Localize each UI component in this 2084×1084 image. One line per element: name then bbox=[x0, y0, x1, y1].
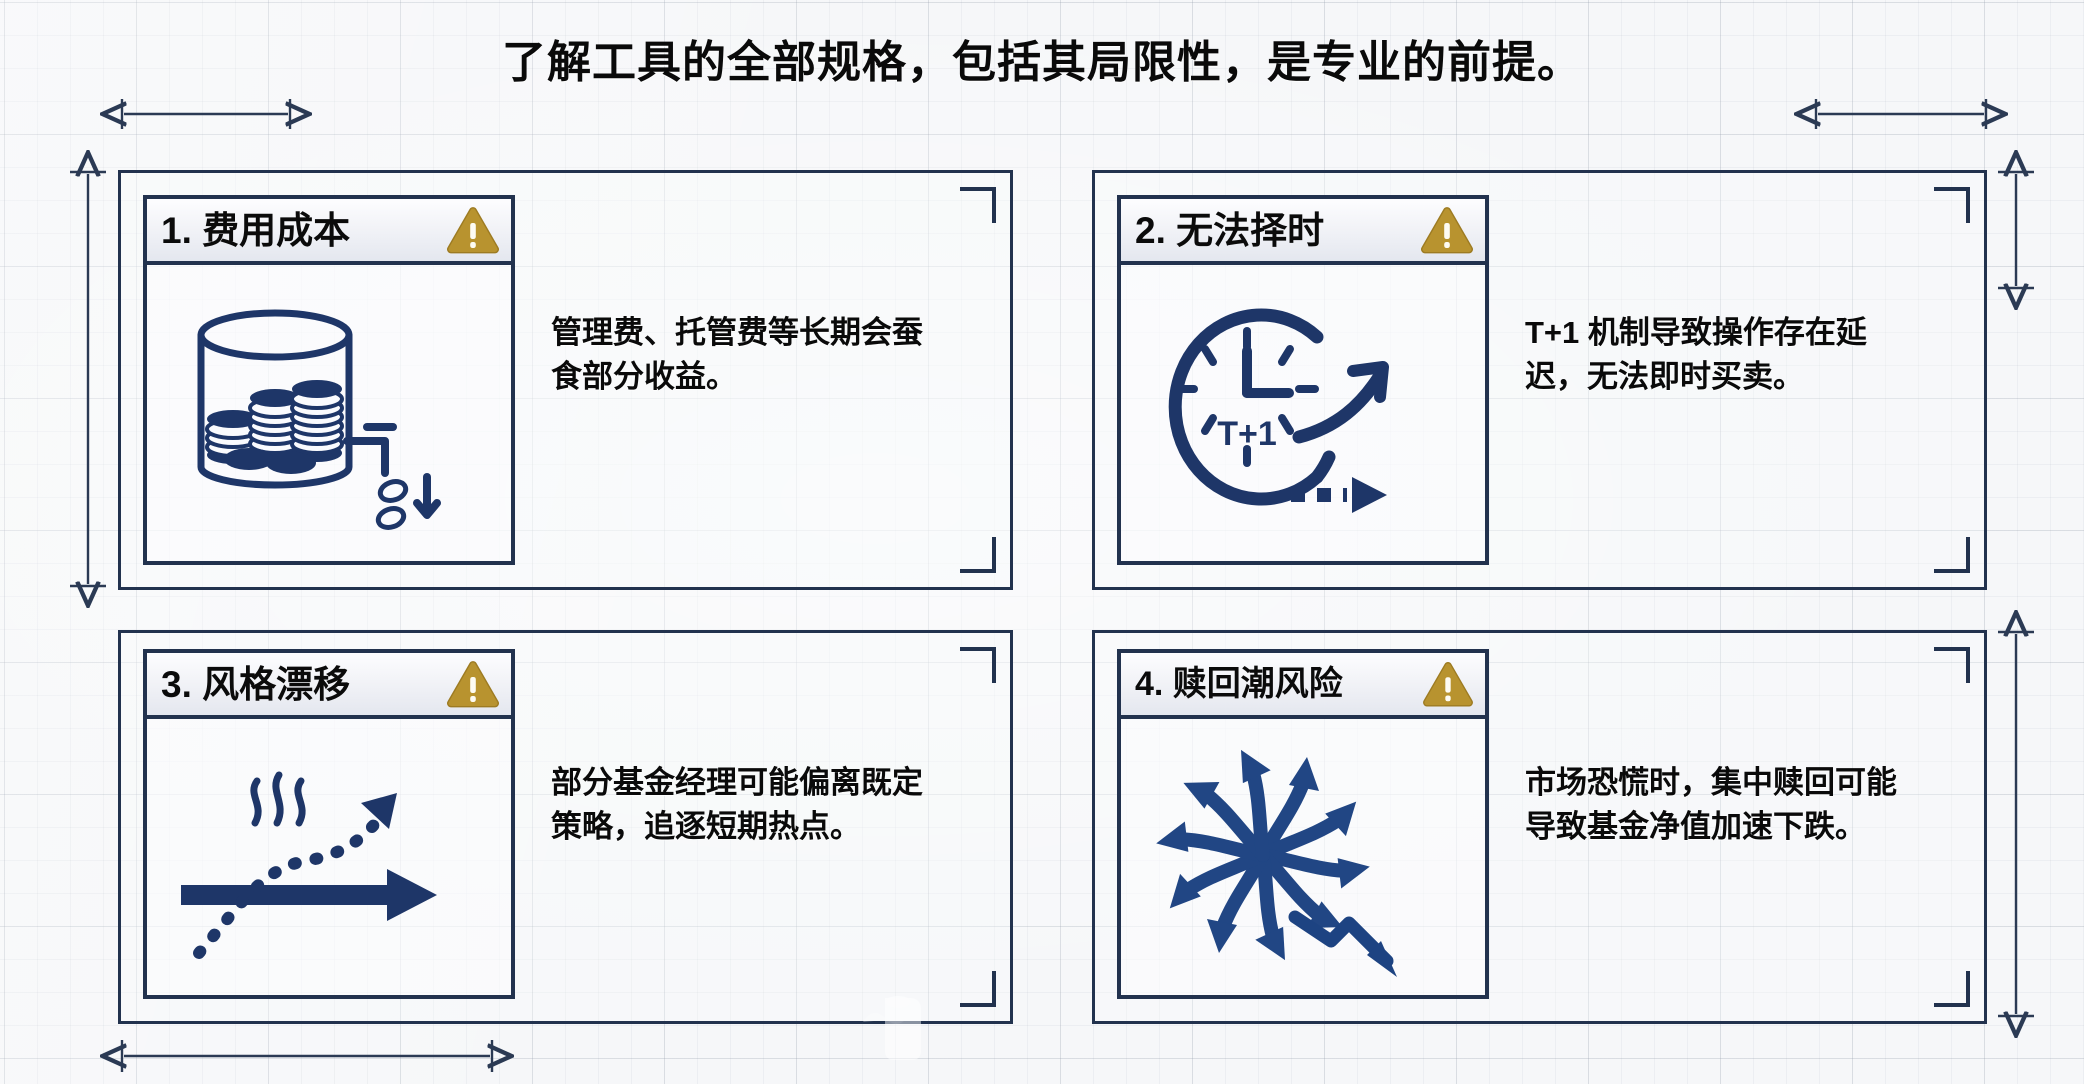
radial-outflow-arrows-icon bbox=[1135, 731, 1445, 993]
warning-triangle-icon bbox=[1421, 660, 1475, 708]
card-2-description: T+1 机制导致操作存在延 迟，无法即时买卖。 bbox=[1525, 311, 1985, 399]
card-1-panel: 1. 费用成本 bbox=[143, 195, 515, 565]
right-bottom-height-dimension bbox=[1998, 632, 2034, 1016]
risk-card-2[interactable]: 2. 无法择时 bbox=[1092, 170, 1987, 590]
card-4-description: 市场恐慌时，集中赎回可能 导致基金净值加速下跌。 bbox=[1525, 761, 1985, 849]
page-title: 了解工具的全部规格，包括其局限性，是专业的前提。 bbox=[0, 26, 2084, 90]
card-3-description: 部分基金经理可能偏离既定 策略，追逐短期热点。 bbox=[551, 761, 1011, 849]
card-1-description: 管理费、托管费等长期会蚕 食部分收益。 bbox=[551, 311, 1011, 399]
clock-t-plus-1-icon: T+1 bbox=[1147, 297, 1437, 527]
top-right-width-dimension bbox=[1816, 99, 1986, 129]
infographic-stage: 了解工具的全部规格，包括其局限性，是专业的前提。 bbox=[0, 0, 2084, 1084]
corner-bracket-top-right-icon bbox=[960, 647, 996, 683]
drifting-arrow-icon bbox=[165, 757, 465, 967]
corner-bracket-bottom-right-icon bbox=[1934, 971, 1970, 1007]
left-height-dimension bbox=[70, 172, 106, 586]
warning-triangle-icon bbox=[445, 659, 501, 709]
clock-t-plus-1-label: T+1 bbox=[1217, 415, 1277, 453]
card-4-heading: 4. 赎回潮风险 bbox=[1135, 667, 1343, 701]
risk-card-3[interactable]: 3. 风格漂移 bbox=[118, 630, 1013, 1024]
card-3-heading: 3. 风格漂移 bbox=[161, 666, 350, 703]
corner-bracket-bottom-right-icon bbox=[960, 537, 996, 573]
risk-card-1[interactable]: 1. 费用成本 bbox=[118, 170, 1013, 590]
corner-bracket-bottom-right-icon bbox=[960, 971, 996, 1007]
card-2-header: 2. 无法择时 bbox=[1121, 199, 1485, 265]
top-left-width-dimension bbox=[122, 99, 290, 129]
card-4-panel: 4. 赎回潮风险 bbox=[1117, 649, 1489, 999]
corner-bracket-bottom-right-icon bbox=[1934, 537, 1970, 573]
card-2-illustration-area: T+1 bbox=[1121, 265, 1485, 561]
card-4-header: 4. 赎回潮风险 bbox=[1121, 653, 1485, 719]
coin-barrel-with-tap-icon bbox=[171, 291, 451, 531]
bottom-left-width-dimension bbox=[122, 1040, 492, 1072]
card-1-illustration-area bbox=[147, 265, 511, 561]
corner-bracket-top-right-icon bbox=[1934, 647, 1970, 683]
warning-triangle-icon bbox=[1419, 205, 1475, 255]
card-3-illustration-area bbox=[147, 719, 511, 995]
card-1-header: 1. 费用成本 bbox=[147, 199, 511, 265]
warning-triangle-icon bbox=[445, 205, 501, 255]
card-2-heading: 2. 无法择时 bbox=[1135, 212, 1324, 249]
risk-card-4[interactable]: 4. 赎回潮风险 bbox=[1092, 630, 1987, 1024]
card-4-illustration-area bbox=[1121, 719, 1485, 995]
card-3-header: 3. 风格漂移 bbox=[147, 653, 511, 719]
right-top-height-dimension bbox=[1998, 172, 2034, 288]
corner-bracket-top-right-icon bbox=[960, 187, 996, 223]
corner-bracket-top-right-icon bbox=[1934, 187, 1970, 223]
card-3-panel: 3. 风格漂移 bbox=[143, 649, 515, 999]
card-1-heading: 1. 费用成本 bbox=[161, 212, 350, 249]
card-2-panel: 2. 无法择时 bbox=[1117, 195, 1489, 565]
